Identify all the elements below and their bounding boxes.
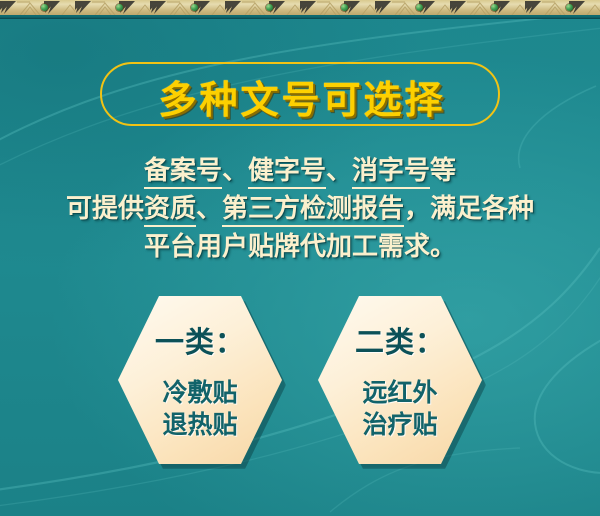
- border-gem-icon: [566, 4, 573, 11]
- border-gem-icon: [41, 4, 48, 11]
- border-gem-icon: [191, 4, 198, 11]
- title-banner-frame: 多种文号可选择: [100, 62, 500, 126]
- description-line-3: 平台用户贴牌代加工需求。: [0, 228, 600, 266]
- description-line-2: 可提供资质、第三方检测报告，满足各种: [0, 190, 600, 228]
- border-gem-icon: [416, 4, 423, 11]
- description-segment-1-3: 健字号: [248, 156, 326, 189]
- description-segment-2-1: 可提供: [66, 194, 144, 224]
- description-segment-1-5: 消字号: [352, 156, 430, 189]
- description-segment-1-6: 等: [430, 156, 456, 186]
- border-gem-icon: [266, 4, 273, 11]
- page-title: 多种文号可选择: [102, 64, 502, 128]
- description-paragraph: 备案号、健字号、消字号等可提供资质、第三方检测报告，满足各种平台用户贴牌代加工需…: [0, 152, 600, 266]
- hex-item-class-one-1: 冷敷贴: [162, 377, 237, 409]
- hex-item-class-two-2: 治疗贴: [362, 409, 437, 441]
- description-line-1: 备案号、健字号、消字号等: [0, 152, 600, 190]
- description-segment-1-4: 、: [326, 156, 352, 186]
- border-gem-icon: [491, 4, 498, 11]
- hex-heading-class-one: 一类：: [155, 319, 245, 361]
- border-gem-icon: [116, 4, 123, 11]
- description-segment-2-3: 、: [196, 194, 222, 224]
- promo-banner-page: 多种文号可选择 备案号、健字号、消字号等可提供资质、第三方检测报告，满足各种平台…: [0, 0, 600, 516]
- description-segment-2-4: 第三方检测报告: [222, 194, 404, 227]
- description-segment-1-1: 备案号: [144, 156, 222, 189]
- top-ornamental-border: [0, 0, 600, 17]
- hex-item-class-one-2: 退热贴: [162, 409, 237, 441]
- border-gem-icon: [341, 4, 348, 11]
- hex-item-class-two-1: 远红外: [362, 377, 437, 409]
- description-segment-2-2: 资质: [144, 194, 196, 227]
- description-segment-2-5: ，满足各种: [404, 194, 534, 224]
- description-segment-1-2: 、: [222, 156, 248, 186]
- description-segment-3-1: 平台用户贴牌代加工需求。: [144, 232, 456, 262]
- hex-heading-class-two: 二类：: [355, 319, 445, 361]
